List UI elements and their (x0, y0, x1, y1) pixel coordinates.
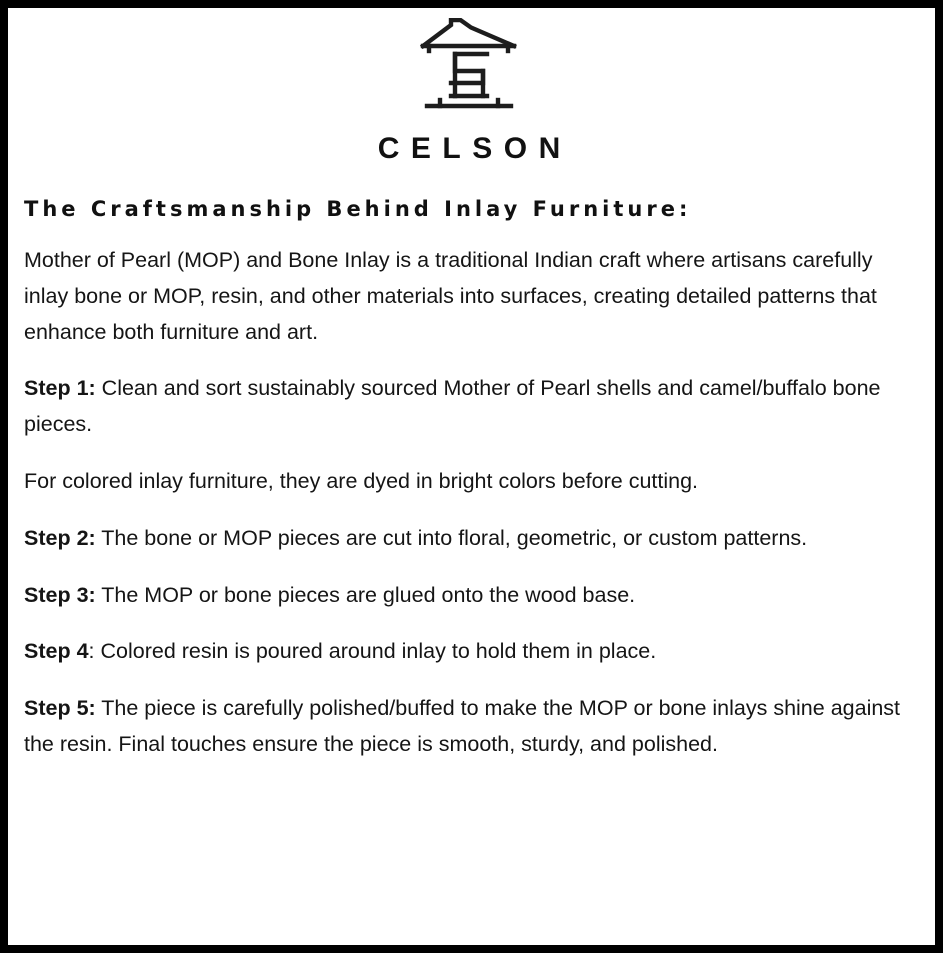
step-1-text: Clean and sort sustainably sourced Mothe… (24, 376, 881, 436)
step-4-paragraph: Step 4: Colored resin is poured around i… (24, 634, 913, 670)
step-2-text: The bone or MOP pieces are cut into flor… (96, 526, 807, 550)
intro-paragraph: Mother of Pearl (MOP) and Bone Inlay is … (24, 243, 913, 350)
step-2-paragraph: Step 2: The bone or MOP pieces are cut i… (24, 521, 913, 557)
step-2-label: Step 2: (24, 526, 96, 550)
step-3-text: The MOP or bone pieces are glued onto th… (96, 583, 635, 607)
note-paragraph: For colored inlay furniture, they are dy… (24, 464, 913, 500)
step-4-text: : Colored resin is poured around inlay t… (89, 639, 657, 663)
page-content: CELSON The Craftsmanship Behind Inlay Fu… (8, 8, 935, 945)
step-5-paragraph: Step 5: The piece is carefully polished/… (24, 691, 913, 763)
brand-header: CELSON (17, 14, 921, 164)
body-copy: Mother of Pearl (MOP) and Bone Inlay is … (24, 243, 913, 763)
step-1-paragraph: Step 1: Clean and sort sustainably sourc… (24, 371, 913, 443)
step-5-label: Step 5: (24, 696, 96, 720)
step-5-text: The piece is carefully polished/buffed t… (24, 696, 900, 756)
house-outline-with-monogram-icon (415, 18, 523, 118)
page-title: The Craftsmanship Behind Inlay Furniture… (24, 198, 921, 221)
flyer-page: CELSON The Craftsmanship Behind Inlay Fu… (0, 0, 943, 953)
step-3-paragraph: Step 3: The MOP or bone pieces are glued… (24, 578, 913, 614)
brand-wordmark: CELSON (17, 134, 921, 164)
step-4-label: Step 4 (24, 639, 89, 663)
step-3-label: Step 3: (24, 583, 96, 607)
step-1-label: Step 1: (24, 376, 96, 400)
